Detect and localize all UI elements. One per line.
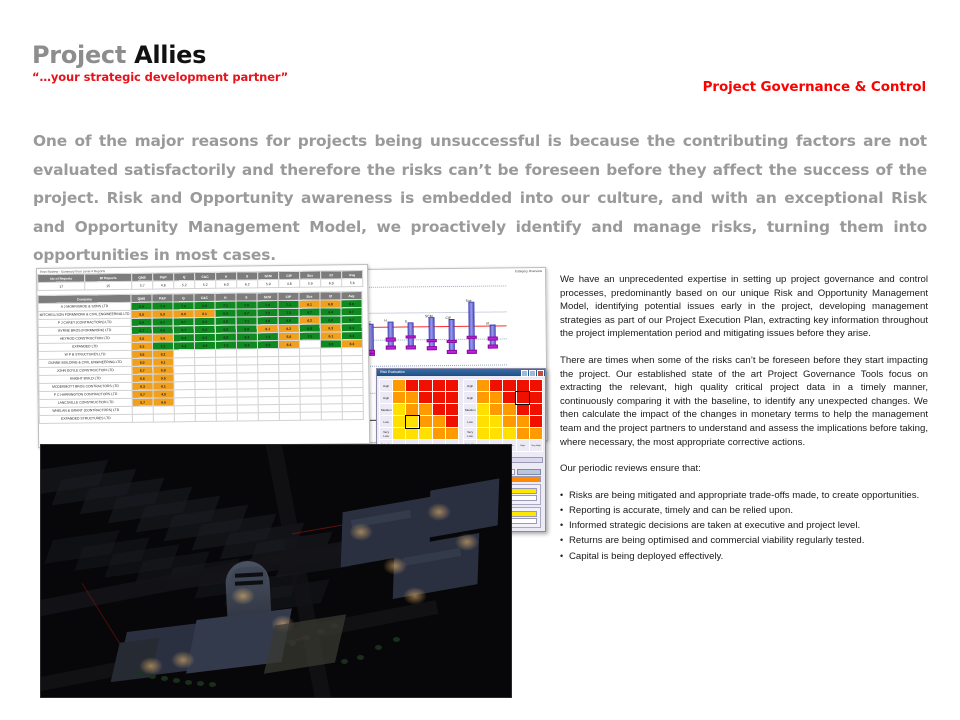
dialog-title-bar: Risk Evaluation <box>377 369 545 376</box>
score-cell: 6.3 <box>236 341 257 349</box>
score-cell: 6.7 <box>341 316 362 324</box>
chart-category-label: CIP <box>445 316 451 320</box>
summary-header-cell: H <box>216 272 237 280</box>
matrix-cell <box>503 428 516 440</box>
score-cell <box>321 412 342 420</box>
score-cell <box>195 413 216 421</box>
company-header-cell: P&P <box>152 294 173 302</box>
matrix-cell <box>393 404 406 416</box>
summary-header-cell: Itf <box>321 271 342 279</box>
summary-value-cell: 5.9 <box>258 280 279 288</box>
chart-low-marker <box>386 346 396 350</box>
matrix-cell <box>432 380 445 392</box>
dialog-window-buttons <box>521 370 544 377</box>
matrix-cell <box>406 416 419 428</box>
score-cell <box>279 404 300 412</box>
matrix-row: High <box>380 392 459 404</box>
summary-header-cell: C&C <box>195 272 216 280</box>
score-cell: 7.5 <box>299 332 320 340</box>
company-header-cell: SCM <box>257 293 278 301</box>
company-name-cell: EXPANDED STRUCTURES LTD <box>39 414 132 423</box>
chart-range-bar <box>469 302 476 353</box>
score-cell: 6.4 <box>320 308 341 316</box>
page-header: Project Allies “…your strategic developm… <box>0 0 960 112</box>
score-cell <box>300 404 321 412</box>
score-cell: 6.5 <box>152 326 173 334</box>
matrix-cell <box>432 392 445 404</box>
matrix-row-label: Medium <box>464 404 477 416</box>
score-cell <box>300 412 321 420</box>
matrix-row: Low <box>380 416 459 428</box>
chart-average-marker <box>426 339 436 343</box>
matrix-row-label: High <box>464 392 477 404</box>
score-cell <box>321 388 342 396</box>
render-element <box>403 587 427 605</box>
render-element <box>137 671 144 676</box>
minimize-icon <box>521 370 528 377</box>
score-cell: 6.1 <box>194 309 215 317</box>
score-cell <box>195 397 216 405</box>
matrix-cell <box>529 392 542 404</box>
company-header-cell: H <box>215 293 236 301</box>
score-cell <box>342 412 363 420</box>
score-cell: 5.9 <box>152 310 173 318</box>
score-cell <box>174 358 195 366</box>
score-cell <box>195 357 216 365</box>
render-element <box>185 680 192 685</box>
score-cell: 6.3 <box>341 332 362 340</box>
score-cell: 6.2 <box>173 342 194 350</box>
list-item: Reporting is accurate, timely and can be… <box>560 504 928 518</box>
render-element <box>209 682 216 687</box>
summary-value-cell: 6.0 <box>321 279 342 287</box>
score-cell: 6.5 <box>194 341 215 349</box>
chart-low-marker <box>467 350 477 354</box>
score-cell: 4.8 <box>257 317 278 325</box>
matrix-cell <box>393 428 406 440</box>
matrix-cell <box>529 404 542 416</box>
score-cell: 6.3 <box>341 340 362 348</box>
chart-category-label: H <box>384 318 386 322</box>
summary-header-cell: Q <box>174 273 195 281</box>
score-cell <box>237 373 258 381</box>
score-cell <box>216 389 237 397</box>
score-cell: 5.2 <box>194 325 215 333</box>
score-cell <box>279 348 300 356</box>
matrix-cell <box>477 404 490 416</box>
score-cell <box>258 413 279 421</box>
summary-value-cell: 5.2 <box>174 281 195 289</box>
matrix-cell <box>529 428 542 440</box>
score-cell <box>279 388 300 396</box>
score-cell: 5.8 <box>153 366 174 374</box>
score-cell: 7.4 <box>152 302 173 310</box>
score-cell <box>300 380 321 388</box>
score-cell <box>237 381 258 389</box>
render-element <box>197 681 204 686</box>
chart-low-marker <box>447 350 457 354</box>
score-cell: 7.3 <box>257 333 278 341</box>
score-cell <box>258 397 279 405</box>
score-cell <box>216 373 237 381</box>
chart-average-marker <box>467 336 477 340</box>
score-cell <box>216 397 237 405</box>
render-element <box>231 587 255 605</box>
matrix-row: Very Low <box>380 428 459 440</box>
matrix-row: Medium <box>380 404 459 416</box>
matrix-cell <box>432 404 445 416</box>
list-item: Risks are being mitigated and appropriat… <box>560 489 928 503</box>
score-cell <box>195 349 216 357</box>
score-cell <box>342 364 363 372</box>
score-cell <box>195 365 216 373</box>
score-cell: 5.6 <box>132 350 153 358</box>
matrix-cell <box>490 428 503 440</box>
summary-header-cell: Avg <box>342 271 363 279</box>
score-cell <box>195 405 216 413</box>
list-item: Informed strategic decisions are taken a… <box>560 519 928 533</box>
render-element <box>383 557 407 575</box>
render-element <box>173 678 180 683</box>
peer-review-spreadsheet-image: Peer Review - Summary from Level 4 Repor… <box>36 264 370 448</box>
score-cell <box>237 413 258 421</box>
matrix-cell <box>432 428 445 440</box>
score-cell: 6.7 <box>152 318 173 326</box>
matrix-cell <box>445 428 458 440</box>
matrix-cell <box>477 428 490 440</box>
matrix-cell <box>406 428 419 440</box>
matrix-cell <box>445 380 458 392</box>
score-cell <box>279 380 300 388</box>
score-cell: 7.2 <box>257 309 278 317</box>
logo-word-project: Project <box>32 41 126 69</box>
matrix-cell <box>393 392 406 404</box>
matrix-row: High <box>380 380 459 392</box>
score-cell <box>300 356 321 364</box>
list-item: Returns are being optimised and commerci… <box>560 534 928 548</box>
score-cell <box>258 365 279 373</box>
score-cell: 7.0 <box>215 341 236 349</box>
render-element <box>455 533 479 551</box>
matrix-cell <box>393 380 406 392</box>
maximize-icon <box>529 370 536 377</box>
score-cell: 5.9 <box>320 340 341 348</box>
matrix-row: Medium <box>464 404 543 416</box>
score-cell <box>342 404 363 412</box>
score-cell <box>195 373 216 381</box>
matrix-cell <box>503 404 516 416</box>
matrix-cell <box>529 380 542 392</box>
score-cell <box>300 364 321 372</box>
body-paragraph-2: There are times when some of the risks c… <box>560 354 928 449</box>
chart-average-marker <box>406 335 416 339</box>
field-button <box>517 469 541 475</box>
close-icon <box>537 370 544 377</box>
score-cell: 6.9 <box>341 300 362 308</box>
score-cell: 6.3 <box>132 382 153 390</box>
score-cell: 6.4 <box>278 340 299 348</box>
score-cell <box>195 389 216 397</box>
score-cell <box>279 356 300 364</box>
matrix-column-label: High <box>516 440 529 452</box>
matrix-cell <box>516 380 529 392</box>
score-cell <box>216 365 237 373</box>
score-cell: 6.0 <box>173 310 194 318</box>
score-cell: 6.2 <box>299 316 320 324</box>
score-cell: 4.9 <box>153 390 174 398</box>
matrix-row-label: High <box>380 392 393 404</box>
matrix-cell <box>529 416 542 428</box>
matrix-row-label: Very Low <box>380 428 393 440</box>
render-element <box>393 637 400 642</box>
matrix-cell <box>503 416 516 428</box>
score-cell <box>174 406 195 414</box>
score-cell: 6.2 <box>194 333 215 341</box>
summary-value-cell: 5.9 <box>300 279 321 287</box>
score-cell <box>258 389 279 397</box>
score-cell: 6.8 <box>320 300 341 308</box>
score-cell <box>237 389 258 397</box>
score-cell: 5.2 <box>131 342 152 350</box>
score-cell <box>258 373 279 381</box>
score-cell <box>174 398 195 406</box>
company-header-cell: Sus <box>299 292 320 300</box>
matrix-cell <box>432 416 445 428</box>
summary-header-cell: SCM <box>258 272 279 280</box>
score-cell: 6.8 <box>215 317 236 325</box>
matrix-column-label: Very High <box>529 440 542 452</box>
score-cell <box>174 374 195 382</box>
chart-average-marker <box>385 338 395 342</box>
score-cell <box>132 406 153 414</box>
matrix-row-label: High <box>464 380 477 392</box>
render-element <box>357 655 364 660</box>
brand-tagline: “…your strategic development partner” <box>32 70 288 84</box>
score-cell: 5.7 <box>132 390 153 398</box>
score-cell: 6.8 <box>215 333 236 341</box>
score-cell <box>153 414 174 422</box>
score-cell: 6.1 <box>153 358 174 366</box>
chart-category-label: SCM <box>425 314 433 318</box>
score-cell: 6.4 <box>194 317 215 325</box>
company-scores-table: CompanyQMSP&PQC&CHSSCMCIPSusItfAvg A J M… <box>37 291 364 424</box>
chart-range-bar <box>428 317 435 349</box>
logo-wordmark: Project Allies <box>32 42 288 68</box>
score-cell <box>237 349 258 357</box>
score-cell <box>342 372 363 380</box>
score-cell: 5.9 <box>131 310 152 318</box>
matrix-cell <box>490 416 503 428</box>
summary-value-cell: 17 <box>38 282 85 291</box>
matrix-row-label: Medium <box>380 404 393 416</box>
development-render-image <box>40 444 512 698</box>
render-element <box>427 503 451 521</box>
score-cell <box>174 366 195 374</box>
company-header-cell: Itf <box>320 292 341 300</box>
summary-header-cell: P&P <box>153 273 174 281</box>
score-cell <box>320 348 341 356</box>
chart-low-marker <box>426 347 436 351</box>
score-cell: 7.0 <box>236 301 257 309</box>
matrix-row: Low <box>464 416 543 428</box>
matrix-cell <box>419 404 432 416</box>
company-header-cell: CIP <box>278 292 299 300</box>
score-cell: 6.1 <box>299 300 320 308</box>
score-cell <box>237 397 258 405</box>
dialog-title-text: Risk Evaluation <box>380 370 405 374</box>
render-element <box>341 659 348 664</box>
score-cell: 6.0 <box>132 358 153 366</box>
score-cell: 5.7 <box>132 366 153 374</box>
matrix-cell <box>477 392 490 404</box>
matrix-cell <box>406 404 419 416</box>
matrix-cell <box>490 404 503 416</box>
score-cell: 6.4 <box>341 324 362 332</box>
score-cell: 6.6 <box>132 374 153 382</box>
body-copy-column: We have an unprecedented expertise in se… <box>560 273 928 565</box>
score-cell <box>237 405 258 413</box>
score-cell: 6.3 <box>173 334 194 342</box>
chart-average-marker <box>487 337 497 341</box>
score-cell <box>300 396 321 404</box>
chart-category-label: S <box>405 319 407 323</box>
score-cell <box>321 372 342 380</box>
chart-range-bar <box>448 319 455 353</box>
score-cell <box>237 357 258 365</box>
score-cell: 6.6 <box>236 325 257 333</box>
score-cell: 7.1 <box>236 317 257 325</box>
score-cell <box>300 388 321 396</box>
intro-paragraph: One of the major reasons for projects be… <box>33 127 927 270</box>
score-cell <box>321 380 342 388</box>
matrix-cell <box>406 392 419 404</box>
score-cell <box>216 357 237 365</box>
score-cell <box>300 348 321 356</box>
score-cell: 6.1 <box>153 382 174 390</box>
score-cell: 6.7 <box>131 326 152 334</box>
matrix-row-label: Low <box>380 416 393 428</box>
post-mitigation-matrix: HighHighMediumLowVery LowProbability / I… <box>463 379 543 452</box>
score-cell: 6.8 <box>278 316 299 324</box>
summary-value-cell: 6.0 <box>216 280 237 288</box>
score-cell: 6.5 <box>131 318 152 326</box>
chart-category-label: Itf <box>486 321 489 325</box>
matrix-cell <box>516 428 529 440</box>
score-cell <box>321 396 342 404</box>
chart-low-marker <box>406 345 416 349</box>
matrix-cell <box>445 404 458 416</box>
matrix-cell <box>445 416 458 428</box>
summary-value-cell: 6.2 <box>237 280 258 288</box>
render-element <box>349 523 373 541</box>
score-cell <box>174 414 195 422</box>
score-cell: 5.5 <box>153 374 174 382</box>
pre-mitigation-matrix: HighHighMediumLowVery LowProbability / I… <box>379 379 459 452</box>
score-cell <box>153 406 174 414</box>
score-cell <box>299 340 320 348</box>
matrix-row-label: Very Low <box>464 428 477 440</box>
score-cell <box>258 381 279 389</box>
summary-value-cell: 5.7 <box>132 281 153 289</box>
render-element <box>149 674 156 679</box>
summary-value-cell: 5.6 <box>342 279 363 287</box>
score-cell <box>279 364 300 372</box>
score-cell <box>342 396 363 404</box>
score-cell: 6.9 <box>320 316 341 324</box>
score-cell <box>195 381 216 389</box>
score-cell: 6.3 <box>236 333 257 341</box>
score-cell <box>174 382 195 390</box>
score-cell: 5.6 <box>152 334 173 342</box>
score-cell <box>342 380 363 388</box>
score-cell: 6.8 <box>299 324 320 332</box>
summary-header-cell: Sus <box>300 271 321 279</box>
score-cell <box>216 405 237 413</box>
render-element <box>375 645 382 650</box>
score-cell: 6.2 <box>278 324 299 332</box>
score-cell <box>341 348 362 356</box>
score-cell: 5.6 <box>131 334 152 342</box>
chart-title: Category Overview <box>515 269 542 273</box>
brand-logo: Project Allies “…your strategic developm… <box>32 42 288 84</box>
summary-header-cell: QMS <box>132 273 153 281</box>
benefits-list: Risks are being mitigated and appropriat… <box>560 489 928 564</box>
score-cell <box>300 372 321 380</box>
score-cell <box>216 349 237 357</box>
summary-value-cell: 4.8 <box>153 281 174 289</box>
score-cell: 7.3 <box>278 308 299 316</box>
score-cell <box>279 372 300 380</box>
matrix-row: Very Low <box>464 428 543 440</box>
logo-word-allies: Allies <box>134 41 206 69</box>
score-cell <box>174 390 195 398</box>
score-cell: 6.2 <box>153 350 174 358</box>
matrix-row: High <box>464 392 543 404</box>
matrix-row: High <box>464 380 543 392</box>
score-cell <box>258 349 279 357</box>
score-cell: 7.1 <box>215 301 236 309</box>
score-cell: 6.6 <box>215 325 236 333</box>
matrix-cell <box>516 416 529 428</box>
chart-range-bar <box>387 321 393 348</box>
image-collage: Category Overview Benchmark 0246810QMSP&… <box>36 268 542 698</box>
score-cell: 6.4 <box>215 309 236 317</box>
score-cell: 6.7 <box>299 308 320 316</box>
score-cell: 6.7 <box>341 308 362 316</box>
matrix-cell <box>490 392 503 404</box>
score-cell <box>321 364 342 372</box>
company-header-cell: S <box>236 293 257 301</box>
score-cell <box>216 413 237 421</box>
company-header-cell: C&C <box>194 293 215 301</box>
matrix-cell <box>477 380 490 392</box>
score-cell <box>132 414 153 422</box>
score-cell: 6.7 <box>236 309 257 317</box>
matrix-row-label: High <box>380 380 393 392</box>
chart-low-marker <box>487 345 497 349</box>
matrix-cell <box>419 380 432 392</box>
matrix-cell <box>490 380 503 392</box>
score-cell <box>174 350 195 358</box>
score-cell: 6.8 <box>131 302 152 310</box>
score-cell: 6.1 <box>257 325 278 333</box>
summary-value-cell: 4.8 <box>279 279 300 287</box>
score-cell: 7.4 <box>173 302 194 310</box>
matrix-cell <box>419 392 432 404</box>
score-cell: 5.3 <box>257 341 278 349</box>
chart-average-marker <box>447 340 457 344</box>
matrix-cell <box>419 416 432 428</box>
